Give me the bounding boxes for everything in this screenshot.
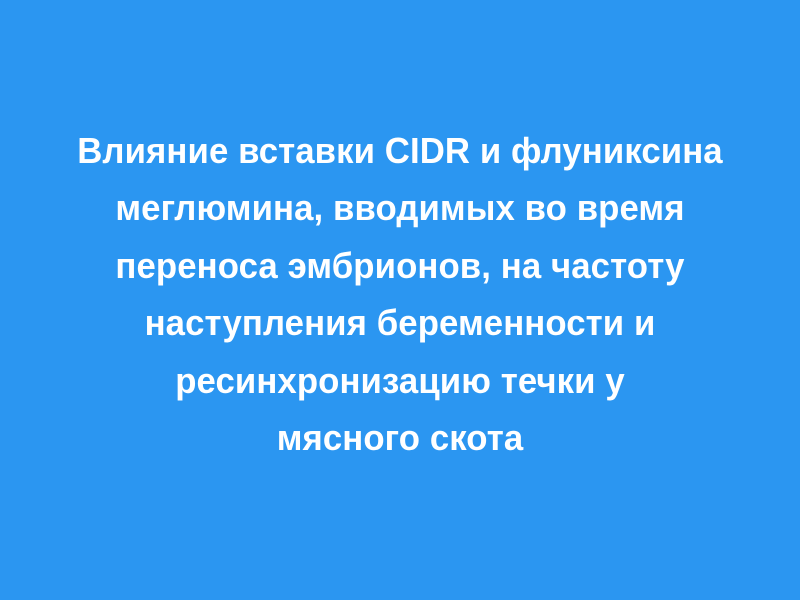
title-line-2: меглюмина, вводимых во время bbox=[76, 179, 724, 237]
title-line-1: Влияние вставки CIDR и флуниксина bbox=[76, 122, 724, 180]
title-slide: Влияние вставки CIDR и флуниксина меглюм… bbox=[0, 0, 800, 600]
page-title: Влияние вставки CIDR и флуниксина меглюм… bbox=[40, 122, 760, 467]
title-line-6: мясного скота bbox=[76, 409, 724, 467]
title-line-5: ресинхронизацию течки у bbox=[76, 352, 724, 410]
title-line-3: переноса эмбрионов, на частоту bbox=[76, 237, 724, 295]
title-line-4: наступления беременности и bbox=[76, 294, 724, 352]
